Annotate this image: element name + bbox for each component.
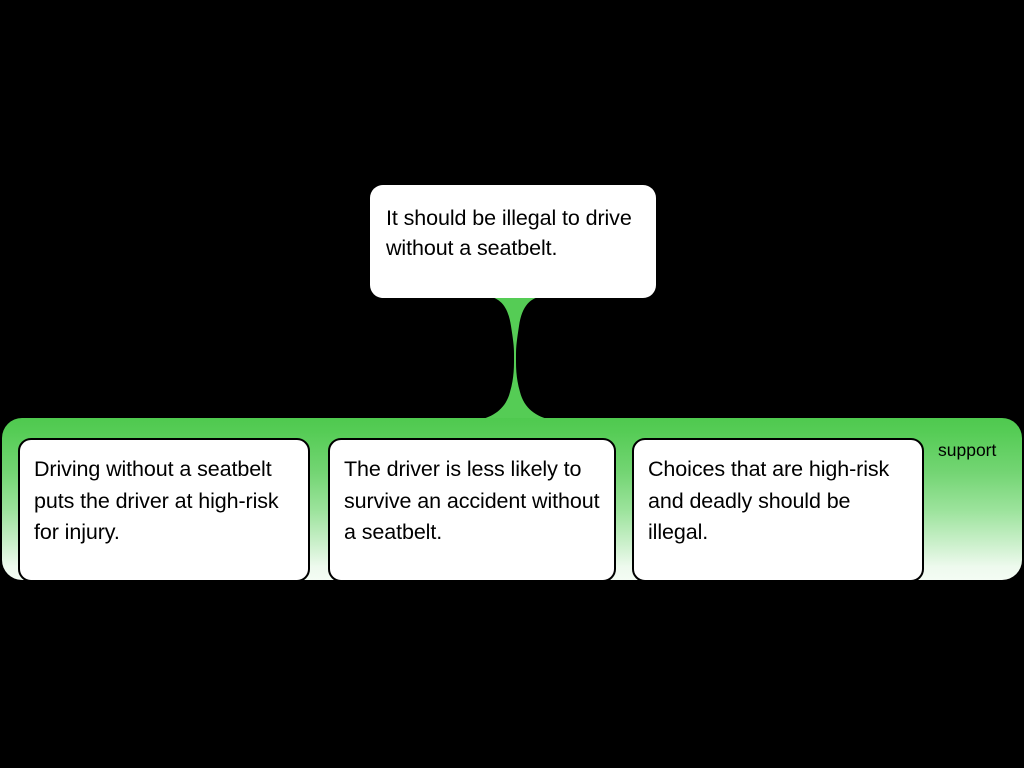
support-node-1-text: Driving without a seatbelt puts the driv… [34,454,295,549]
support-node-2-text: The driver is less likely to survive an … [344,454,601,549]
support-node-1[interactable]: Driving without a seatbelt puts the driv… [18,438,310,582]
claim-node-root-text: It should be illegal to drive without a … [386,203,640,263]
support-node-3[interactable]: Choices that are high-risk and deadly sh… [632,438,924,582]
diagram-canvas: support It should be illegal to drive wi… [0,0,1024,768]
support-connector-icon [440,292,590,424]
support-node-2[interactable]: The driver is less likely to survive an … [328,438,616,582]
canvas-bottom-mask [0,580,1024,768]
support-node-3-text: Choices that are high-risk and deadly sh… [648,454,909,549]
relation-label-support: support [938,439,996,461]
claim-node-root[interactable]: It should be illegal to drive without a … [370,185,656,298]
